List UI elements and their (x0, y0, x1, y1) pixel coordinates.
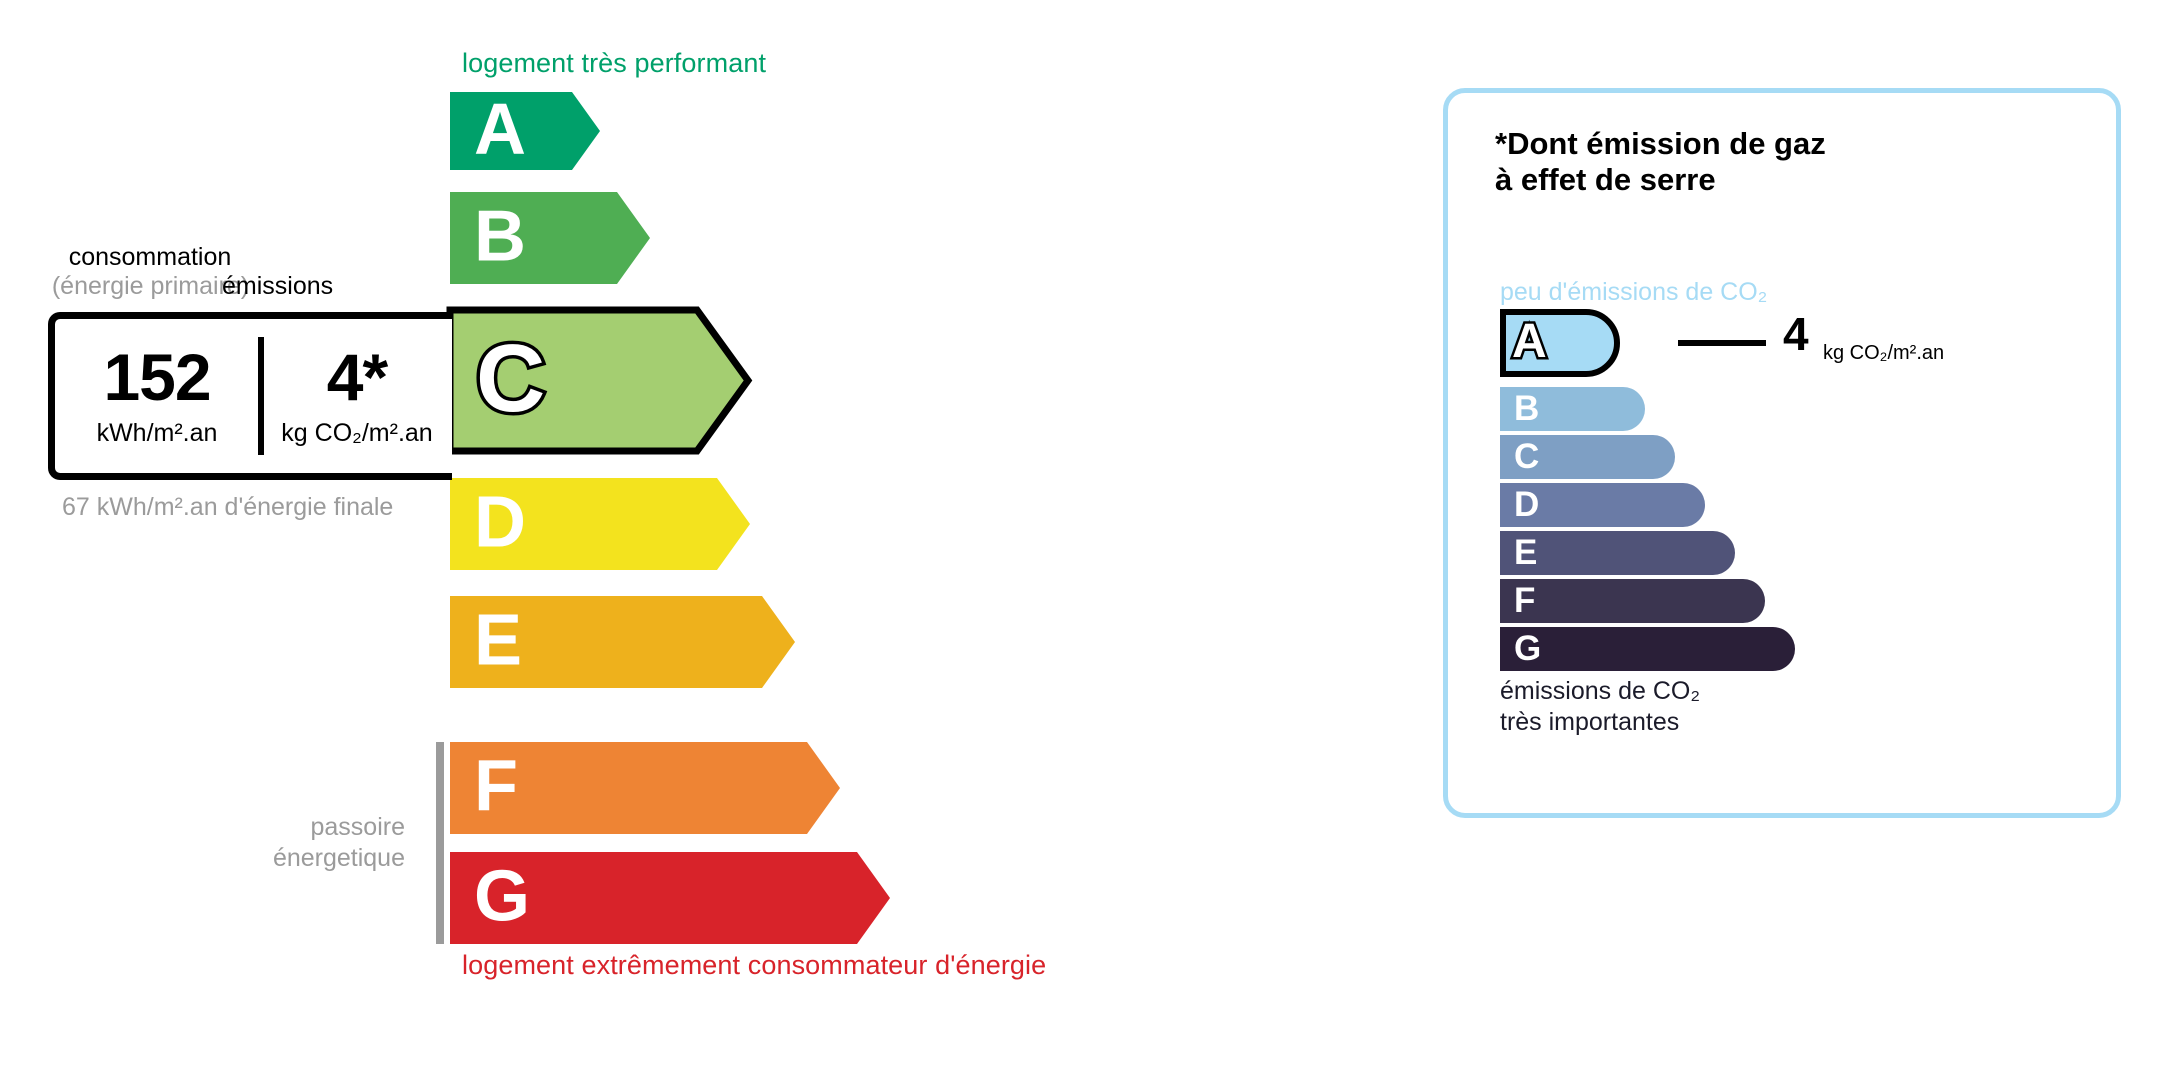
co2-class-row-f: F (1500, 579, 1765, 623)
co2-value: 4 (1783, 311, 1809, 357)
consumption-value-cell: 152 kWh/m².an (55, 319, 259, 473)
co2-emissions-panel: *Dont émission de gaz à effet de serre p… (1443, 88, 2121, 818)
co2-class-letter-a: A (1512, 318, 1547, 366)
co2-class-row-g: G (1500, 627, 1795, 671)
energy-scale-top-label: logement très performant (462, 48, 766, 79)
consumption-value: 152 (103, 344, 210, 410)
energy-class-letter-f: F (474, 751, 518, 823)
energy-class-row-f: F (450, 742, 840, 834)
energy-class-letter-c: C (476, 331, 545, 427)
label-emissions: émissions (222, 272, 333, 302)
co2-class-row-a: A4kg CO₂/m².an (1500, 309, 1620, 377)
co2-scale-bottom-label: émissions de CO₂ très importantes (1500, 676, 1700, 737)
energy-class-row-a: A (450, 92, 600, 170)
co2-bar-f (1500, 579, 1765, 623)
co2-class-row-e: E (1500, 531, 1735, 575)
energy-class-letter-g: G (474, 861, 530, 933)
co2-class-letter-d: D (1514, 487, 1539, 522)
energy-class-row-e: E (450, 596, 795, 688)
final-energy-note: 67 kWh/m².an d'énergie finale (62, 492, 393, 523)
co2-class-letter-f: F (1514, 583, 1535, 618)
energy-scale-bottom-label: logement extrêmement consommateur d'éner… (462, 950, 1046, 981)
consumption-unit: kWh/m².an (97, 419, 218, 448)
co2-class-letter-c: C (1514, 439, 1539, 474)
energy-class-letter-e: E (474, 605, 522, 677)
energy-class-row-g: G (450, 852, 890, 944)
label-consommation: consommation (60, 243, 240, 273)
energy-class-row-b: B (450, 192, 650, 284)
energy-class-letter-b: B (474, 201, 526, 273)
co2-scale-top-label: peu d'émissions de CO₂ (1500, 278, 1767, 307)
emission-unit: kg CO₂/m².an (281, 419, 432, 448)
value-box: 152 kWh/m².an 4* kg CO₂/m².an (48, 312, 452, 480)
energy-class-letter-d: D (474, 487, 526, 559)
co2-class-letter-e: E (1514, 535, 1537, 570)
energy-performance-diagram: logement très performant ABCDEFG consomm… (0, 0, 1400, 1079)
co2-class-row-d: D (1500, 483, 1705, 527)
emission-value: 4* (327, 344, 387, 410)
energy-class-letter-a: A (474, 94, 526, 166)
passoire-bracket (436, 742, 444, 944)
co2-value-unit: kg CO₂/m².an (1823, 342, 1944, 365)
energy-class-row-d: D (450, 478, 750, 570)
emission-value-cell: 4* kg CO₂/m².an (263, 319, 451, 473)
co2-panel-title: *Dont émission de gaz à effet de serre (1495, 126, 1826, 199)
co2-class-row-b: B (1500, 387, 1645, 431)
energy-class-row-c: C (450, 310, 748, 451)
co2-class-letter-b: B (1514, 391, 1539, 426)
co2-class-letter-g: G (1514, 631, 1541, 666)
co2-class-row-c: C (1500, 435, 1675, 479)
co2-leader-line (1678, 340, 1766, 346)
co2-bar-g (1500, 627, 1795, 671)
passoire-energetique-label: passoire énergetique (200, 812, 405, 873)
